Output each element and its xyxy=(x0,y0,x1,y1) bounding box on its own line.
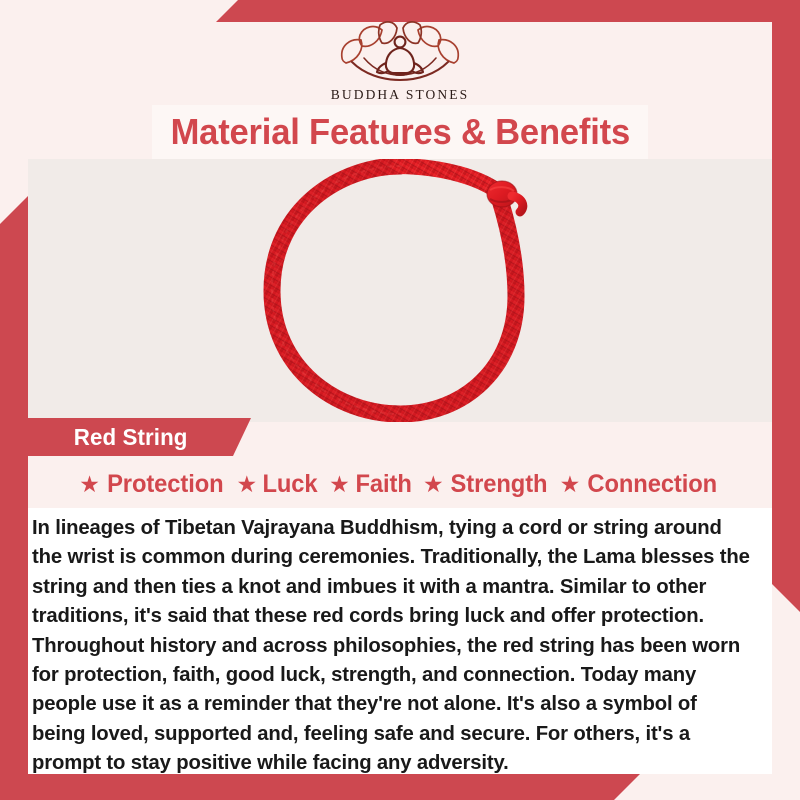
product-name-ribbon: Red String xyxy=(28,418,251,456)
benefit-item-faith: ★ Faith xyxy=(324,470,418,499)
infographic-page: BUDDHA STONES Material Features & Benefi… xyxy=(0,0,800,800)
title-banner: Material Features & Benefits xyxy=(152,105,648,159)
benefit-item-luck: ★ Luck xyxy=(232,470,325,499)
benefit-label: Connection xyxy=(588,470,718,499)
benefit-item-connection: ★ Connection xyxy=(555,470,726,499)
benefit-label: Faith xyxy=(355,470,411,499)
benefits-row: ★ Protection ★ Luck ★ Faith ★ Strength ★… xyxy=(28,464,772,504)
page-title: Material Features & Benefits xyxy=(170,111,629,153)
frame-border-left xyxy=(0,196,28,800)
benefit-label: Luck xyxy=(263,470,318,499)
description-card: In lineages of Tibetan Vajrayana Buddhis… xyxy=(28,508,772,774)
star-icon: ★ xyxy=(423,473,444,496)
brand-logo: BUDDHA STONES xyxy=(0,18,800,103)
benefit-item-strength: ★ Strength xyxy=(418,470,555,499)
hero-image-area xyxy=(28,159,772,422)
red-braided-string-bracelet-icon xyxy=(250,159,550,422)
star-icon: ★ xyxy=(329,473,350,496)
description-text: In lineages of Tibetan Vajrayana Buddhis… xyxy=(28,508,772,779)
lotus-meditation-icon xyxy=(334,18,466,84)
star-icon: ★ xyxy=(79,473,100,496)
benefit-item-protection: ★ Protection xyxy=(74,470,231,499)
star-icon: ★ xyxy=(560,473,581,496)
product-name-label: Red String xyxy=(74,424,188,451)
benefit-label: Protection xyxy=(107,470,223,499)
benefit-label: Strength xyxy=(450,470,547,499)
brand-wordmark: BUDDHA STONES xyxy=(331,87,469,103)
star-icon: ★ xyxy=(237,473,258,496)
